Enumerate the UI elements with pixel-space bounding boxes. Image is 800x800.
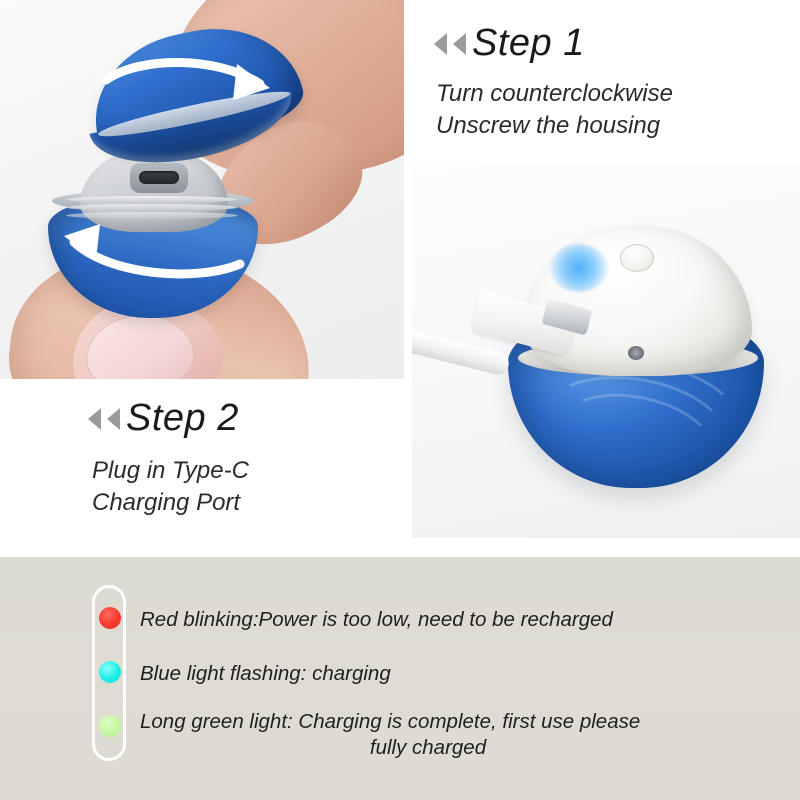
step-2-heading: Step 2 bbox=[88, 397, 239, 440]
type-c-port-slot-icon bbox=[139, 171, 179, 184]
photo-disassemble-ball bbox=[0, 0, 404, 379]
curved-arrow-left-icon bbox=[48, 216, 248, 282]
core-thread-ring bbox=[66, 204, 238, 211]
core-thread-ring bbox=[66, 196, 238, 203]
legend-row-label: Blue light flashing: charging bbox=[140, 661, 391, 687]
panel-divider-horizontal bbox=[0, 379, 404, 383]
step-2-body: Plug in Type-C Charging Port bbox=[92, 455, 249, 519]
led-status-legend-panel: Red blinking:Power is too low, need to b… bbox=[0, 557, 800, 800]
panel-divider-horizontal bbox=[410, 158, 800, 164]
legend-row-label: Red blinking:Power is too low, need to b… bbox=[140, 607, 613, 633]
legend-row-label: Long green light: Charging is complete, … bbox=[140, 709, 716, 761]
product-instruction-infographic: Step 1 Turn counterclockwise Unscrew the… bbox=[0, 0, 800, 800]
panel-divider-vertical bbox=[406, 0, 410, 557]
double-left-triangle-icon bbox=[88, 408, 101, 430]
power-button-icon bbox=[620, 244, 654, 272]
blue-led-glow-icon bbox=[550, 244, 608, 292]
step-1-text-block: Step 1 Turn counterclockwise Unscrew the… bbox=[412, 0, 800, 158]
curved-arrow-right-icon bbox=[100, 58, 290, 118]
double-left-triangle-icon bbox=[453, 33, 466, 55]
legend-row-label-line2: fully charged bbox=[140, 735, 716, 761]
step-1-body: Turn counterclockwise Unscrew the housin… bbox=[436, 78, 673, 142]
step-1-heading: Step 1 bbox=[434, 22, 585, 65]
screw-icon bbox=[628, 346, 644, 360]
step-2-text-block: Step 2 Plug in Type-C Charging Port bbox=[0, 383, 404, 557]
green-led-dot-icon bbox=[99, 715, 121, 737]
cyan-led-dot-icon bbox=[99, 661, 121, 683]
red-led-dot-icon bbox=[99, 607, 121, 629]
double-left-triangle-icon bbox=[434, 33, 447, 55]
double-left-triangle-icon bbox=[107, 408, 120, 430]
step-2-title: Step 2 bbox=[126, 397, 239, 440]
step-1-title: Step 1 bbox=[472, 22, 585, 65]
photo-charging-ball bbox=[412, 164, 800, 538]
legend-row-label-line1: Long green light: Charging is complete, … bbox=[140, 709, 716, 735]
